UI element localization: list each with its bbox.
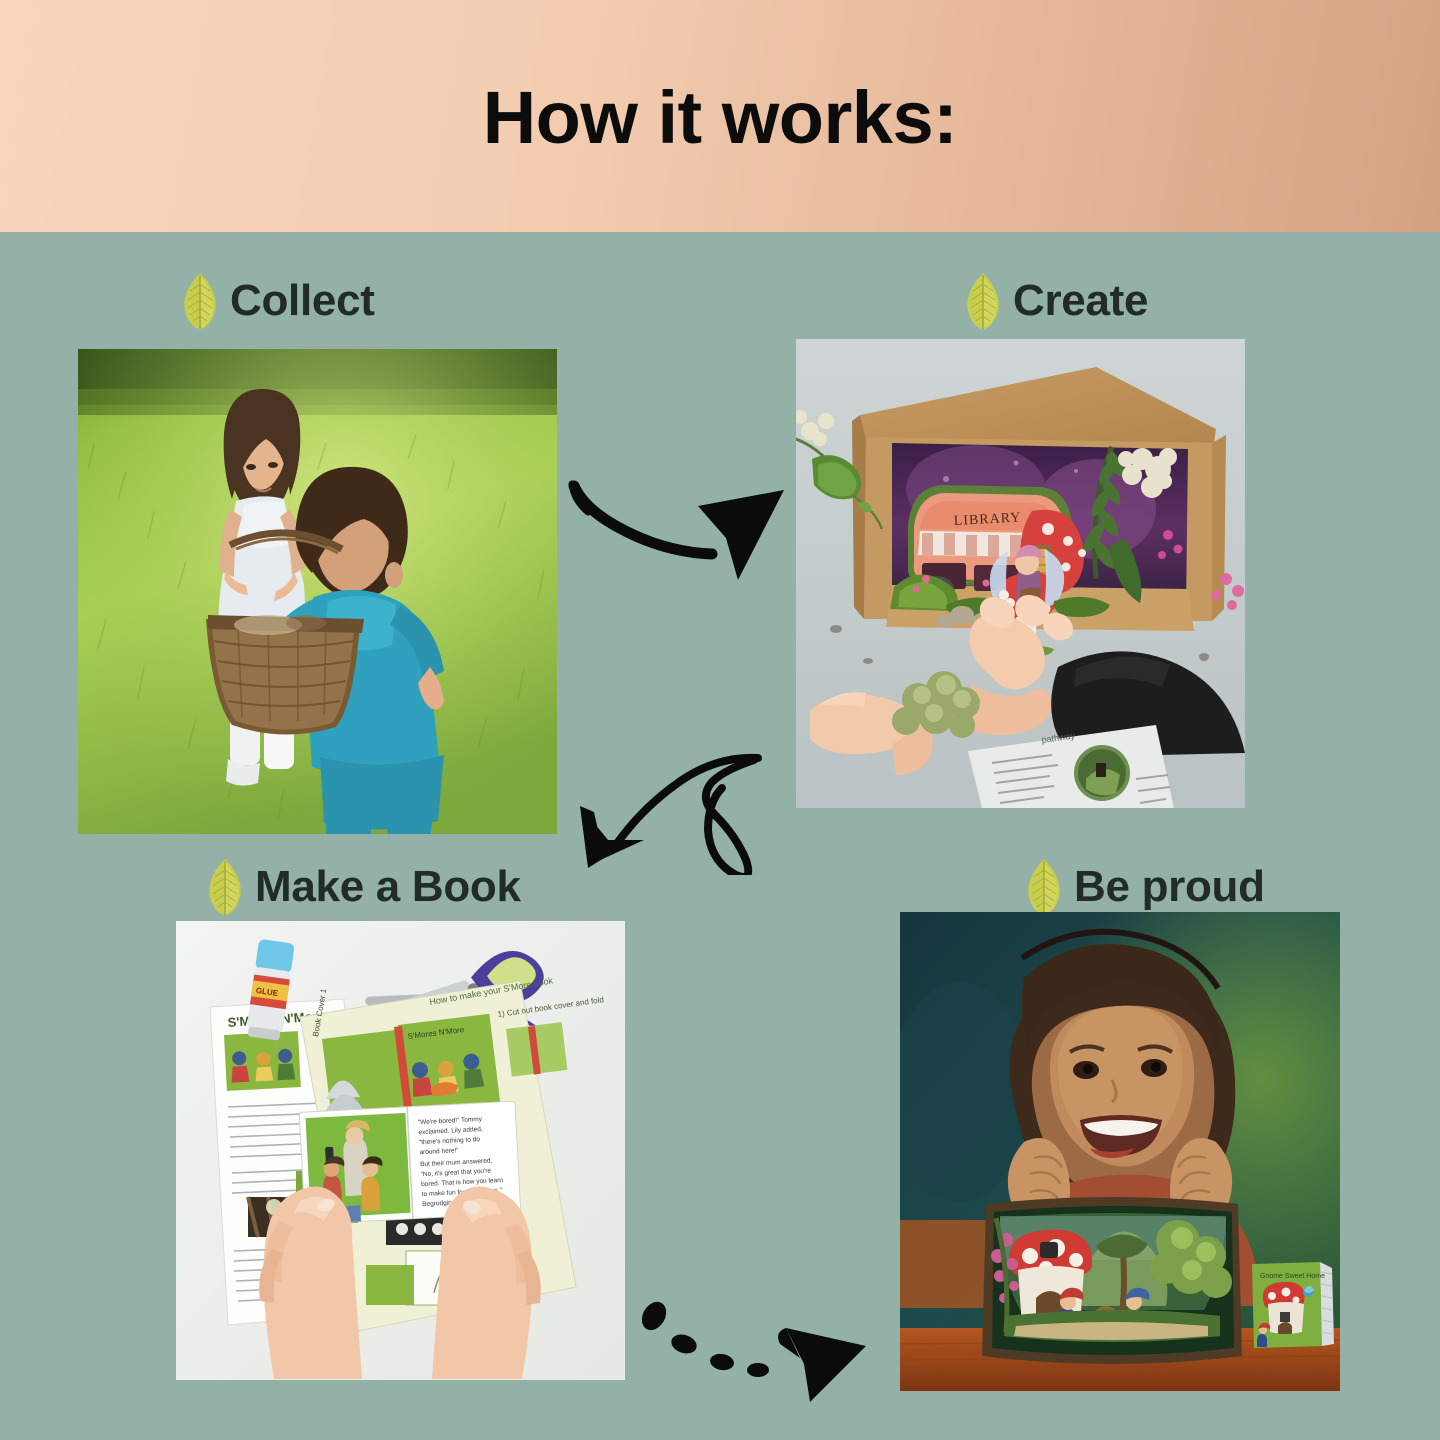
step-label-create: Create xyxy=(963,272,1148,330)
children-collecting-nature-photo xyxy=(78,349,557,834)
arrow-book-to-proud xyxy=(618,1286,888,1404)
page-title: How it works: xyxy=(483,81,958,155)
leaf-icon xyxy=(963,272,1003,330)
svg-text:Gnome Sweet Home: Gnome Sweet Home xyxy=(1260,1273,1325,1280)
infographic-page: How it works: Collect xyxy=(0,0,1440,1440)
arrow-create-to-book xyxy=(572,750,782,875)
step-label-make-a-book: Make a Book xyxy=(205,858,521,916)
step-label-collect: Collect xyxy=(180,272,375,330)
fairy-diorama-box-photo: LIBRARY xyxy=(796,339,1245,808)
proud-child-with-diorama-photo: Gnome Sweet Home xyxy=(900,912,1340,1391)
step-label-be-proud: Be proud xyxy=(1024,858,1265,916)
leaf-icon xyxy=(205,858,245,916)
arrow-collect-to-create xyxy=(568,476,818,596)
leaf-icon xyxy=(180,272,220,330)
step-label-text: Create xyxy=(1013,276,1148,326)
header-banner: How it works: xyxy=(0,0,1440,232)
leaf-icon xyxy=(1024,858,1064,916)
step-label-text: Make a Book xyxy=(255,862,521,912)
book-making-craft-photo: S'Mores N'More xyxy=(176,921,625,1380)
step-label-text: Be proud xyxy=(1074,862,1265,912)
step-label-text: Collect xyxy=(230,276,375,326)
